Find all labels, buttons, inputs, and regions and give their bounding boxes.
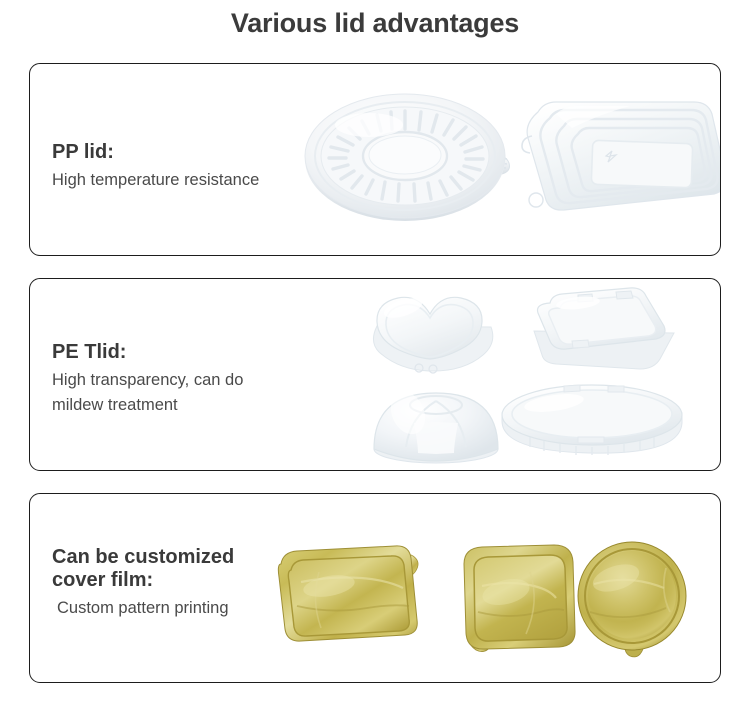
page-title: Various lid advantages bbox=[0, 8, 750, 39]
cover-film-subtext: Custom pattern printing bbox=[52, 596, 234, 621]
custom-cover-film-card: Can be customized cover film: Custom pat… bbox=[29, 493, 721, 683]
gold-round-foil-lid bbox=[570, 540, 710, 662]
pe-lid-card: PE Tlid: High transparency, can do milde… bbox=[29, 278, 721, 471]
round-pp-lid bbox=[303, 89, 523, 229]
rectangular-pp-lid bbox=[508, 84, 721, 234]
gold-rectangular-foil-lid bbox=[267, 542, 427, 652]
pp-lid-subtext: High temperature resistance bbox=[52, 168, 259, 193]
gold-square-foil-lid bbox=[454, 540, 584, 658]
dome-pe-lid bbox=[358, 371, 513, 469]
pe-lid-heading: PE Tlid: bbox=[52, 341, 243, 364]
pp-lid-text-block: PP lid: High temperature resistance bbox=[52, 141, 259, 193]
heart-pe-lid bbox=[355, 284, 505, 379]
pp-lid-heading: PP lid: bbox=[52, 141, 259, 164]
oval-pe-lid bbox=[492, 381, 692, 466]
pe-lid-subtext: High transparency, can do mildew treatme… bbox=[52, 368, 243, 418]
cover-film-text-block: Can be customized cover film: Custom pat… bbox=[52, 546, 234, 621]
cover-film-heading: Can be customized cover film: bbox=[52, 546, 234, 592]
square-pe-lid bbox=[520, 281, 680, 381]
pe-lid-text-block: PE Tlid: High transparency, can do milde… bbox=[52, 341, 243, 418]
pp-lid-card: PP lid: High temperature resistance bbox=[29, 63, 721, 256]
